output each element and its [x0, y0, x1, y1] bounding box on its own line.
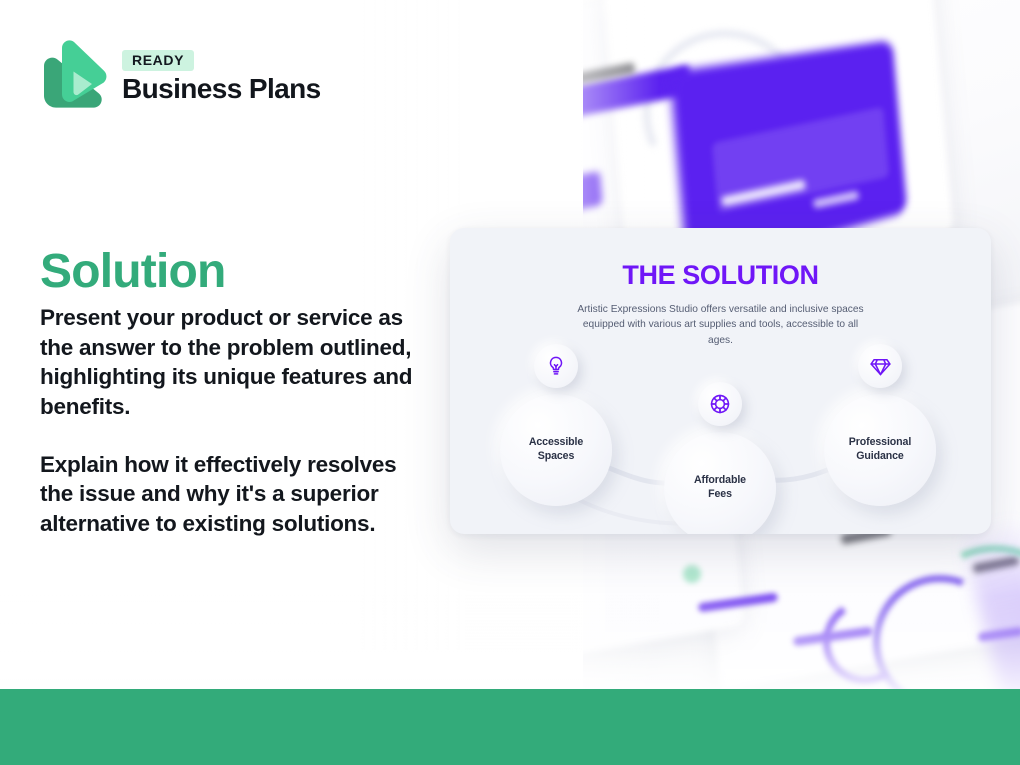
donut-chart-icon	[709, 393, 731, 415]
play-triangles-logo-icon	[40, 40, 108, 114]
feature-circle-accessible-spaces[interactable]: Accessible Spaces	[500, 394, 612, 506]
feature-label: Professional Guidance	[849, 436, 911, 463]
body-copy: Present your product or service as the a…	[40, 303, 432, 539]
preview-card-description: Artistic Expressions Studio offers versa…	[571, 302, 871, 348]
feature-label: Accessible Spaces	[529, 436, 583, 463]
backdrop-dot	[683, 565, 701, 583]
preview-card-title: THE SOLUTION	[450, 260, 991, 291]
diamond-icon	[869, 355, 892, 378]
page-title: Solution	[40, 247, 226, 297]
ready-badge: READY	[122, 50, 194, 71]
brand-lockup: READY Business Plans	[40, 40, 321, 114]
lightbulb-icon-bubble	[534, 344, 578, 388]
body-paragraph-1: Present your product or service as the a…	[40, 303, 432, 422]
body-paragraph-2: Explain how it effectively resolves the …	[40, 450, 432, 539]
donut-chart-icon-bubble	[698, 382, 742, 426]
feature-circle-affordable-fees[interactable]: Affordable Fees	[664, 432, 776, 534]
feature-label: Affordable Fees	[694, 474, 746, 501]
feature-circle-professional-guidance[interactable]: Professional Guidance	[824, 394, 936, 506]
diamond-icon-bubble	[858, 344, 902, 388]
lightbulb-icon	[545, 355, 567, 377]
footer-bar	[0, 689, 1020, 765]
brand-title: Business Plans	[122, 74, 321, 103]
slide-root: READY Business Plans Solution Present yo…	[0, 0, 1020, 765]
brand-text: READY Business Plans	[122, 50, 321, 103]
solution-preview-card[interactable]: THE SOLUTION Artistic Expressions Studio…	[450, 228, 991, 534]
